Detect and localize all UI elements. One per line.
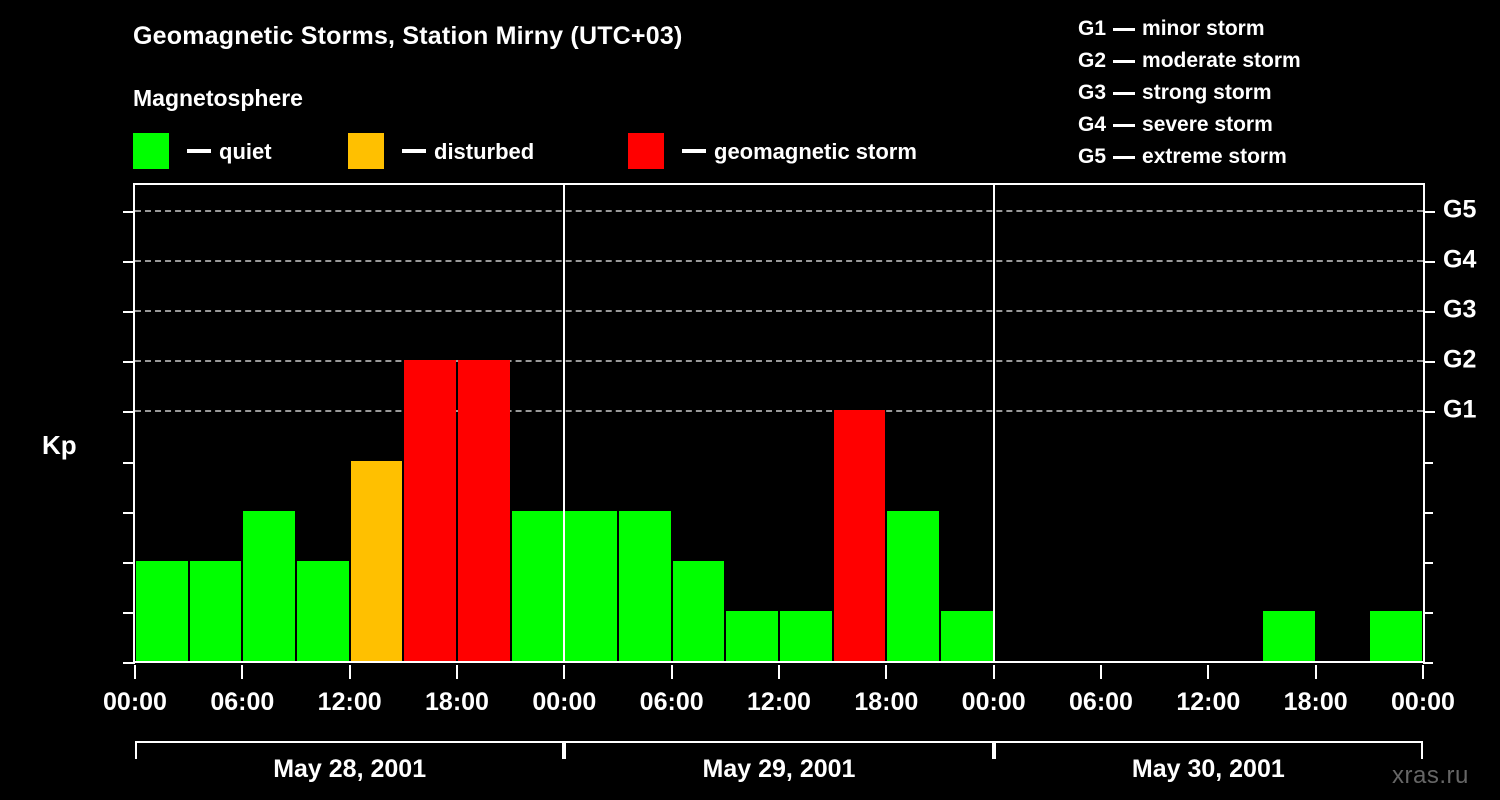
day-label: May 28, 2001 [273, 755, 426, 784]
day-bracket-end [564, 741, 566, 759]
g-dash-icon [1113, 60, 1135, 63]
x-tick-9 [1100, 665, 1102, 679]
page-title: Geomagnetic Storms, Station Mirny (UTC+0… [133, 22, 682, 51]
day-bracket [564, 741, 993, 743]
legend-entry-geomagnetic-storm: geomagnetic storm [628, 133, 917, 169]
y-tick-6 [123, 361, 135, 363]
x-tick-label-0: 00:00 [103, 688, 167, 717]
x-tick-label-8: 00:00 [962, 688, 1026, 717]
chart-plot-area [133, 183, 1425, 663]
g-tick-g5 [1423, 211, 1435, 213]
g-legend-row-g1: G1minor storm [1078, 13, 1301, 45]
g-tick-g3 [1423, 311, 1435, 313]
g-dash-icon [1113, 124, 1135, 127]
x-tick-label-4: 00:00 [532, 688, 596, 717]
bar [136, 561, 188, 661]
legend-entry-quiet: quiet [133, 133, 272, 169]
gridline-kp-7 [135, 310, 1423, 312]
quiet-swatch [133, 133, 169, 169]
y-tick-3 [123, 512, 135, 514]
x-tick-4 [563, 665, 565, 679]
g-description: minor storm [1142, 17, 1265, 41]
x-tick-10 [1207, 665, 1209, 679]
g-axis-label-g4: G4 [1443, 246, 1476, 275]
g-axis-label-g5: G5 [1443, 196, 1476, 225]
g-tick-g1 [1423, 411, 1435, 413]
y-tick-2 [123, 562, 135, 564]
g-tick-minor-1 [1423, 612, 1433, 614]
g-legend-row-g2: G2moderate storm [1078, 45, 1301, 77]
g-tick-minor-4 [1423, 462, 1433, 464]
x-tick-12 [1422, 665, 1424, 679]
legend-dash-icon [187, 149, 211, 153]
day-label: May 30, 2001 [1132, 755, 1285, 784]
x-tick-0 [134, 665, 136, 679]
chart-plot-inner [135, 185, 1423, 661]
bar [834, 410, 886, 661]
legend-label: disturbed [434, 141, 534, 163]
y-tick-8 [123, 261, 135, 263]
gridline-kp-9 [135, 210, 1423, 212]
x-tick-label-11: 18:00 [1284, 688, 1348, 717]
bar [941, 611, 993, 661]
g-axis-label-g2: G2 [1443, 346, 1476, 375]
bar [190, 561, 242, 661]
g-code: G2 [1078, 49, 1106, 73]
y-tick-7 [123, 311, 135, 313]
bar [512, 511, 564, 661]
g-tick-minor-0 [1423, 662, 1433, 664]
bar [887, 511, 939, 661]
y-tick-9 [123, 211, 135, 213]
g-tick-g2 [1423, 361, 1435, 363]
y-axis-title: Kp [42, 430, 77, 461]
x-tick-8 [993, 665, 995, 679]
day-bracket [135, 741, 564, 743]
x-tick-label-12: 00:00 [1391, 688, 1455, 717]
g-axis-label-g3: G3 [1443, 296, 1476, 325]
legend-label: geomagnetic storm [714, 141, 917, 163]
g-description: strong storm [1142, 81, 1272, 105]
g-code: G1 [1078, 17, 1106, 41]
legend-entry-disturbed: disturbed [348, 133, 534, 169]
x-tick-6 [778, 665, 780, 679]
bar [458, 360, 510, 661]
x-tick-1 [241, 665, 243, 679]
g-legend-row-g4: G4severe storm [1078, 109, 1301, 141]
storm-swatch [628, 133, 664, 169]
bar [673, 561, 725, 661]
y-tick-5 [123, 411, 135, 413]
bar [351, 461, 403, 661]
watermark: xras.ru [1392, 762, 1469, 790]
g-code: G4 [1078, 113, 1106, 137]
x-tick-label-6: 12:00 [747, 688, 811, 717]
day-bracket [994, 741, 1423, 743]
magnetosphere-label: Magnetosphere [133, 85, 303, 112]
x-tick-label-2: 12:00 [318, 688, 382, 717]
g-code: G5 [1078, 145, 1106, 169]
g-description: extreme storm [1142, 145, 1287, 169]
g-tick-g4 [1423, 261, 1435, 263]
bar [565, 511, 617, 661]
y-tick-1 [123, 612, 135, 614]
g-dash-icon [1113, 92, 1135, 95]
day-label: May 29, 2001 [703, 755, 856, 784]
legend-label: quiet [219, 141, 272, 163]
bar [243, 511, 295, 661]
bar [619, 511, 671, 661]
y-tick-0 [123, 662, 135, 664]
g-dash-icon [1113, 28, 1135, 31]
x-tick-label-5: 06:00 [640, 688, 704, 717]
g-description: severe storm [1142, 113, 1273, 137]
x-tick-label-9: 06:00 [1069, 688, 1133, 717]
x-tick-11 [1315, 665, 1317, 679]
x-tick-2 [349, 665, 351, 679]
day-bracket-end [1421, 741, 1423, 759]
bar [726, 611, 778, 661]
x-tick-label-7: 18:00 [854, 688, 918, 717]
bar [404, 360, 456, 661]
day-separator [993, 185, 995, 661]
x-tick-label-3: 18:00 [425, 688, 489, 717]
x-tick-5 [671, 665, 673, 679]
y-tick-4 [123, 462, 135, 464]
day-bracket-end [135, 741, 137, 759]
g-dash-icon [1113, 156, 1135, 159]
bar [1263, 611, 1315, 661]
gridline-kp-8 [135, 260, 1423, 262]
day-separator [563, 185, 565, 661]
bar [1370, 611, 1422, 661]
g-scale-legend: G1minor stormG2moderate stormG3strong st… [1078, 13, 1301, 173]
x-tick-3 [456, 665, 458, 679]
gridline-kp-6 [135, 360, 1423, 362]
g-description: moderate storm [1142, 49, 1301, 73]
day-bracket-end [994, 741, 996, 759]
g-legend-row-g5: G5extreme storm [1078, 141, 1301, 173]
x-tick-label-10: 12:00 [1176, 688, 1240, 717]
g-code: G3 [1078, 81, 1106, 105]
bar [780, 611, 832, 661]
g-tick-minor-2 [1423, 562, 1433, 564]
legend-dash-icon [402, 149, 426, 153]
g-tick-minor-3 [1423, 512, 1433, 514]
bar [297, 561, 349, 661]
gridline-kp-5 [135, 410, 1423, 412]
disturbed-swatch [348, 133, 384, 169]
x-tick-label-1: 06:00 [210, 688, 274, 717]
x-tick-7 [885, 665, 887, 679]
g-legend-row-g3: G3strong storm [1078, 77, 1301, 109]
g-axis-label-g1: G1 [1443, 396, 1476, 425]
legend-dash-icon [682, 149, 706, 153]
